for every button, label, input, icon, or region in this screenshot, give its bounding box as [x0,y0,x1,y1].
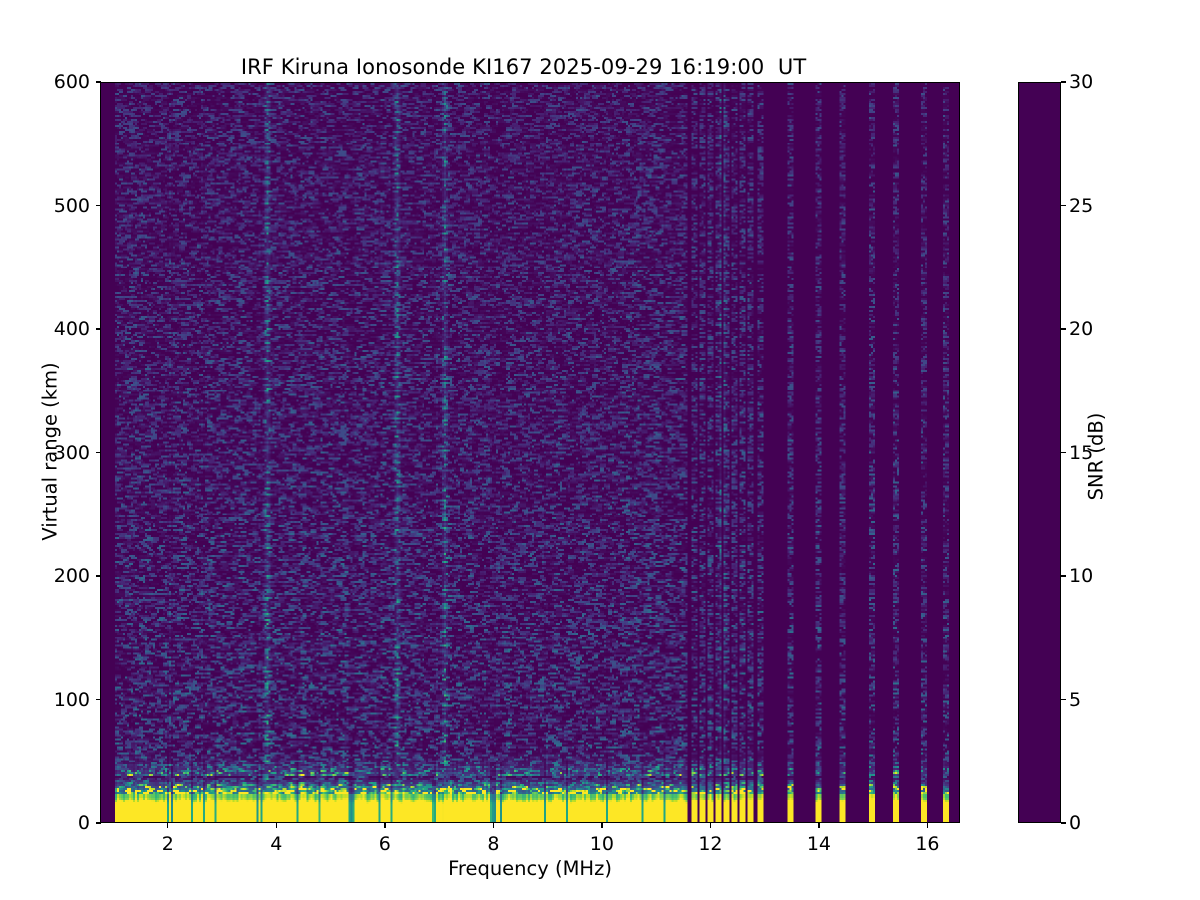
x-tick-mark [710,823,711,828]
colorbar-tick-mark [1061,575,1066,576]
y-tick-mark [96,822,101,823]
y-tick-mark [96,328,101,329]
colorbar-tick-mark [1061,699,1066,700]
y-tick-mark [96,575,101,576]
colorbar-tick-mark [1061,822,1066,823]
x-tick-label: 14 [784,833,854,855]
heatmap-image [101,83,959,822]
x-tick-mark [818,823,819,828]
y-tick-mark [96,452,101,453]
colorbar-tick-mark [1061,452,1066,453]
x-tick-label: 10 [567,833,637,855]
title-line-1: IRF Kiruna Ionosonde KI167 2025-09-29 16… [241,55,806,79]
ionogram-figure: IRF Kiruna Ionosonde KI167 2025-09-29 16… [0,0,1200,900]
colorbar-tick-mark [1061,81,1066,82]
colorbar-tick-label: 5 [1069,691,1081,710]
x-tick-label: 16 [892,833,962,855]
x-tick-mark [276,823,277,828]
x-tick-mark [493,823,494,828]
x-tick-label: 12 [675,833,745,855]
x-tick-mark [927,823,928,828]
x-tick-mark [167,823,168,828]
y-tick-mark [96,81,101,82]
y-tick-mark [96,205,101,206]
x-axis-label: Frequency (MHz) [100,857,960,880]
x-tick-label: 8 [458,833,528,855]
colorbar-tick-label: 30 [1069,73,1093,92]
x-tick-label: 6 [350,833,420,855]
x-tick-mark [384,823,385,828]
x-tick-mark [601,823,602,828]
x-tick-label: 2 [133,833,203,855]
y-axis-label: Virtual range (km) [39,72,62,832]
colorbar [1018,82,1061,823]
colorbar-tick-mark [1061,328,1066,329]
colorbar-gradient [1019,83,1060,822]
ionogram-plot-area [100,82,960,823]
colorbar-tick-mark [1061,205,1066,206]
y-tick-mark [96,699,101,700]
colorbar-tick-label: 25 [1069,197,1093,216]
colorbar-label: SNR (dB) [1085,227,1108,687]
x-tick-label: 4 [241,833,311,855]
colorbar-tick-label: 0 [1069,814,1081,833]
